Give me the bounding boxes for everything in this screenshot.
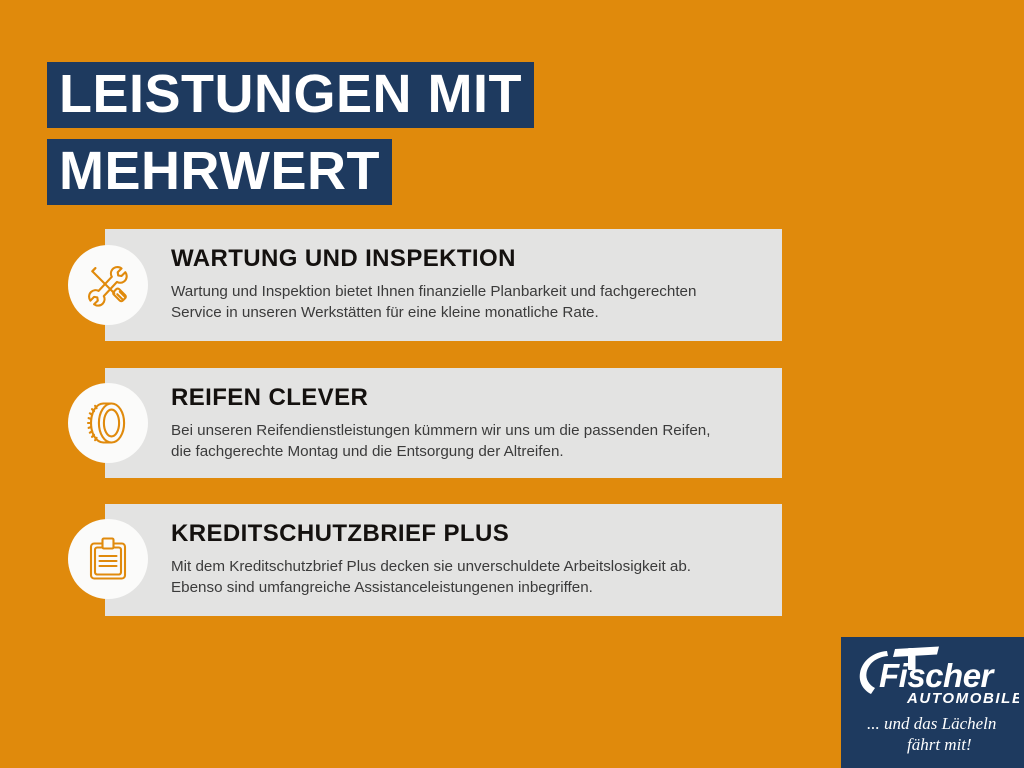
card-body-line-2: Ebenso sind umfangreiche Assistanceleist… (171, 577, 766, 598)
card-text-block: REIFEN CLEVER Bei unseren Reifendienstle… (171, 385, 766, 462)
logo-subbrand-text: AUTOMOBILE (906, 690, 1019, 707)
card-title: KREDITSCHUTZBRIEF PLUS (171, 521, 766, 547)
card-body: Bei unseren Reifendienstleistungen kümme… (171, 420, 766, 462)
logo-brand-text: Fischer (879, 657, 996, 694)
card-body: Wartung und Inspektion bietet Ihnen fina… (171, 281, 766, 323)
logo-tagline-line-2: fährt mit! (907, 735, 972, 754)
card-body-line-2: Service in unseren Werkstätten für eine … (171, 302, 766, 323)
card-title: WARTUNG UND INSPEKTION (171, 246, 766, 272)
slide-canvas: LEISTUNGEN MIT MEHRWERT WARTUNG UND INSP… (0, 0, 1024, 768)
logo-wordmark: Fischer AUTOMOBILE (851, 645, 1019, 707)
logo-tagline: ... und das Lächeln fährt mit! (863, 709, 1015, 761)
wrench-screwdriver-icon (68, 245, 148, 325)
card-body-line-1: Wartung und Inspektion bietet Ihnen fina… (171, 281, 766, 302)
card-text-block: WARTUNG UND INSPEKTION Wartung und Inspe… (171, 246, 766, 323)
card-title: REIFEN CLEVER (171, 385, 766, 411)
clipboard-icon (68, 519, 148, 599)
card-body-line-1: Bei unseren Reifendienstleistungen kümme… (171, 420, 766, 441)
title-line-1-row: LEISTUNGEN MIT (47, 62, 534, 128)
tire-icon (68, 383, 148, 463)
card-body-line-2: die fachgerechte Montag und die Entsorgu… (171, 441, 766, 462)
card-body-line-1: Mit dem Kreditschutzbrief Plus decken si… (171, 556, 766, 577)
service-card-reifen-clever[interactable]: REIFEN CLEVER Bei unseren Reifendienstle… (105, 368, 782, 478)
logo-tagline-line-1: ... und das Lächeln (867, 714, 996, 733)
card-body: Mit dem Kreditschutzbrief Plus decken si… (171, 556, 766, 598)
card-text-block: KREDITSCHUTZBRIEF PLUS Mit dem Kreditsch… (171, 521, 766, 598)
service-card-wartung-und-inspektion[interactable]: WARTUNG UND INSPEKTION Wartung und Inspe… (105, 229, 782, 341)
fischer-automobile-logo: Fischer AUTOMOBILE ... und das Lächeln f… (841, 637, 1024, 768)
service-card-kreditschutzbrief-plus[interactable]: KREDITSCHUTZBRIEF PLUS Mit dem Kreditsch… (105, 504, 782, 616)
title-line-2-row: MEHRWERT (47, 139, 534, 205)
title-line-1: LEISTUNGEN MIT (47, 62, 534, 128)
title-line-2: MEHRWERT (47, 139, 392, 205)
page-title: LEISTUNGEN MIT MEHRWERT (47, 62, 534, 205)
